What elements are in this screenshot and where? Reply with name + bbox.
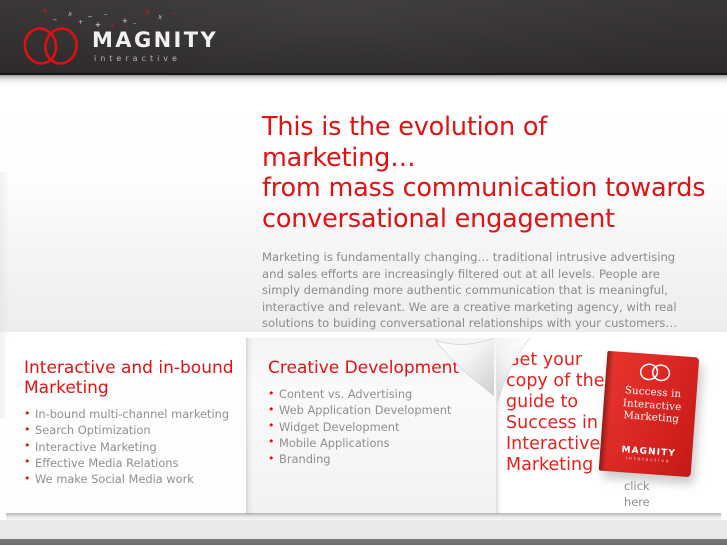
list-item: Mobile Applications <box>268 435 478 451</box>
site-logo[interactable]: MAGNITY interactive <box>22 26 218 66</box>
logo-brand-tagline: interactive <box>92 55 218 63</box>
decor-glyph-icon: + <box>122 18 128 25</box>
logo-wordmark: MAGNITY interactive <box>92 29 218 63</box>
feature-columns: Interactive and in-bound Marketing In-bo… <box>6 338 721 514</box>
column-2-content: Creative Development Content vs. Adverti… <box>268 358 478 467</box>
site-header: +–x+–+–++–+x–+ MAGNITY interactive <box>0 0 727 75</box>
list-item: Effective Media Relations <box>24 455 236 471</box>
list-item: We make Social Media work <box>24 471 236 487</box>
footer-bar <box>0 539 727 545</box>
list-item: Content vs. Advertising <box>268 386 478 402</box>
column-creative-development: Creative Development Content vs. Adverti… <box>246 338 496 514</box>
infinity-logo-icon <box>22 26 80 66</box>
hero-section: This is the evolution of marketing… from… <box>0 86 727 332</box>
decor-glyph-icon: x <box>157 14 162 22</box>
list-item: Web Application Development <box>268 402 478 418</box>
column-1-title: Interactive and in-bound Marketing <box>24 358 236 398</box>
book-infinity-logo-icon <box>637 362 672 382</box>
hero-content: This is the evolution of marketing… from… <box>262 112 707 332</box>
hero-headline-line-3: conversational engagement <box>262 204 615 234</box>
list-item: Widget Development <box>268 419 478 435</box>
list-item: Interactive Marketing <box>24 439 236 455</box>
hero-headline-line-2: from mass communication towards <box>262 173 705 203</box>
decor-glyph-icon: – <box>172 10 176 18</box>
column-1-content: Interactive and in-bound Marketing In-bo… <box>24 358 236 487</box>
decor-glyph-icon: + <box>144 8 151 16</box>
column-2-title: Creative Development <box>268 358 478 378</box>
column-2-bullet-list: Content vs. AdvertisingWeb Application D… <box>268 386 478 467</box>
decor-glyph-icon: – <box>104 11 108 18</box>
hero-headline-line-1: This is the evolution of marketing… <box>262 112 547 173</box>
footer-gap <box>0 520 727 539</box>
hero-headline: This is the evolution of marketing… from… <box>262 112 707 234</box>
logo-brand-name: MAGNITY <box>92 28 218 52</box>
list-item: Search Optimization <box>24 422 236 438</box>
decor-glyph-icon: x <box>67 11 73 19</box>
column-interactive-inbound: Interactive and in-bound Marketing In-bo… <box>6 338 246 514</box>
page-root: +–x+–+–++–+x–+ MAGNITY interactive This … <box>0 0 727 545</box>
column-promo-guide: Get your copy of the guide to Success in… <box>496 338 721 514</box>
list-item: In-bound multi-channel marketing <box>24 406 236 422</box>
decor-glyph-icon: – <box>88 13 92 21</box>
promo-content: Get your copy of the guide to Success in… <box>506 350 641 476</box>
decor-glyph-icon: + <box>42 8 48 15</box>
click-here-link[interactable]: click here <box>624 478 664 510</box>
promo-headline: Get your copy of the guide to Success in… <box>506 350 626 476</box>
decor-glyph-icon: – <box>53 16 57 24</box>
hero-body-text: Marketing is fundamentally changing… tra… <box>262 249 682 332</box>
list-item: Branding <box>268 451 478 467</box>
column-1-bullet-list: In-bound multi-channel marketingSearch O… <box>24 406 236 487</box>
